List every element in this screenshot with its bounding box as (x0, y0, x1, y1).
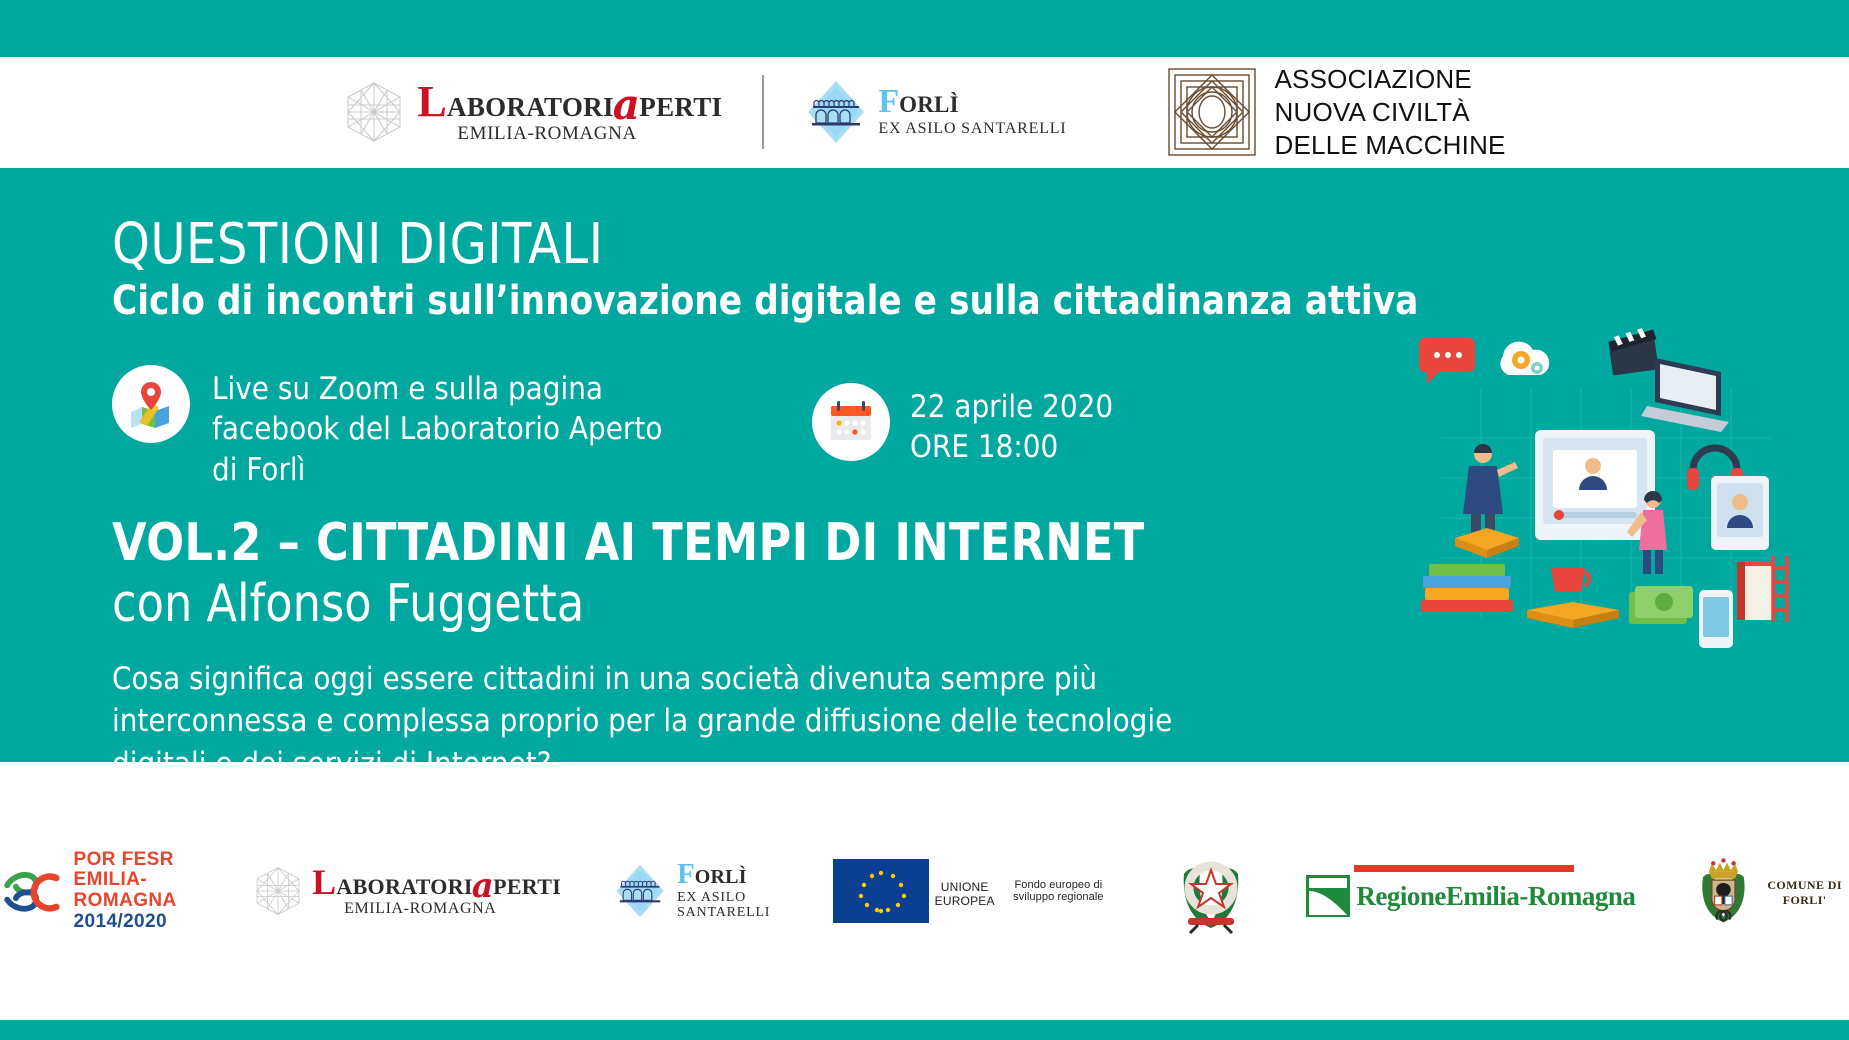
la-letter-a: a (613, 84, 641, 126)
footer-forli-wordmark: FORLÌ EX ASILO SANTARELLI (677, 861, 781, 920)
la-big-l: L (417, 83, 447, 120)
event-description: Cosa significa oggi essere cittadini in … (112, 658, 1172, 762)
geometric-rosette-icon (1167, 67, 1257, 157)
place-text: Live su Zoom e sulla pagina facebook del… (212, 365, 662, 490)
logo-regione-emilia-romagna: RegioneEmilia-Romagna (1306, 865, 1635, 917)
footer-la-big-l: L (312, 867, 336, 898)
map-pin-icon (112, 365, 190, 443)
eu-flag-icon (833, 859, 929, 923)
rer-wordmark: RegioneEmilia-Romagna (1356, 881, 1635, 912)
logo-comune-di-forli: COMUNE DI FORLI' (1687, 842, 1849, 940)
date-info: 22 aprile 2020 ORE 18:00 (812, 383, 1136, 468)
footer-forli-big-f: F (677, 861, 695, 887)
footer-logo-band: POR FESR EMILIA-ROMAGNA 2014/2020 LABORA… (0, 762, 1849, 1020)
footer-logo-forli: FORLÌ EX ASILO SANTARELLI (613, 861, 781, 920)
la-word2: PERTI (639, 94, 722, 121)
footer-la-word2: PERTI (493, 876, 561, 898)
event-headline: VOL.2 – CITTADINI AI TEMPI DI INTERNET c… (112, 513, 1144, 636)
footer-la-wordmark: LABORATORIaPERTI EMILIA-ROMAGNA (312, 866, 561, 917)
emblem-of-italy-icon (1168, 848, 1254, 934)
logo-unione-europea: UNIONE EUROPEA Fondo europeo di sviluppo… (833, 859, 1116, 923)
footer-forli-rest: ORLÌ (695, 867, 747, 888)
la-word1: ABORATORI (447, 94, 614, 121)
description-line-1: Cosa significa oggi essere cittadini in … (112, 658, 1172, 700)
laboratori-aperti-wordmark: LABORATORIaPERTI EMILIA-ROMAGNA (417, 81, 722, 143)
por-fesr-line1: POR FESR (74, 850, 202, 871)
eu-caption-1: UNIONE EUROPEA (929, 880, 1000, 908)
forli-arches-diamond-icon (804, 79, 868, 145)
hexagon-mesh-icon (343, 81, 405, 143)
bottom-accent-strip (0, 1020, 1849, 1040)
place-line2: facebook del Laboratorio Aperto (212, 409, 662, 449)
logo-por-fesr: POR FESR EMILIA-ROMAGNA 2014/2020 (0, 850, 201, 932)
rer-green-mark-icon (1306, 875, 1350, 917)
logo-repubblica-italiana (1168, 848, 1254, 934)
por-fesr-line3: 2014/2020 (74, 912, 202, 933)
rer-red-bar (1354, 865, 1574, 872)
footer-logo-laboratori-aperti: LABORATORIaPERTI EMILIA-ROMAGNA (253, 866, 561, 917)
top-accent-strip (0, 0, 1849, 57)
eu-caption-2: Fondo europeo di sviluppo regionale (1000, 879, 1116, 903)
date-text: 22 aprile 2020 ORE 18:00 (910, 383, 1113, 468)
poster-root: LABORATORIaPERTI EMILIA-ROMAGNA (0, 0, 1849, 1040)
por-fesr-wordmark: POR FESR EMILIA-ROMAGNA 2014/2020 (74, 850, 202, 932)
page-title: QUESTIONI DIGITALI (112, 212, 603, 277)
por-fesr-line2: EMILIA-ROMAGNA (74, 870, 202, 911)
hexagon-mesh-icon (253, 866, 303, 916)
logo-laboratori-aperti: LABORATORIaPERTI EMILIA-ROMAGNA (343, 81, 722, 143)
calendar-icon (812, 383, 890, 461)
comune-caption: COMUNE DI FORLI' (1760, 878, 1849, 908)
comune-coat-of-arms-icon (1687, 842, 1760, 940)
por-fesr-swirl-icon (0, 855, 64, 927)
place-line3: di Forlì (212, 450, 662, 490)
footer-la-region: EMILIA-ROMAGNA (344, 901, 561, 917)
la-region: EMILIA-ROMAGNA (457, 124, 722, 143)
footer-la-letter-a: a (472, 869, 494, 903)
page-subtitle: Ciclo di incontri sull’innovazione digit… (112, 278, 1418, 324)
forli-arches-diamond-icon (613, 863, 667, 919)
footer-forli-subtitle: EX ASILO SANTARELLI (677, 891, 781, 920)
description-line-3: digitali e dei servizi di Internet? (112, 743, 1172, 762)
footer-la-word1: ABORATORI (336, 876, 472, 898)
isometric-digital-illustration (1411, 318, 1801, 658)
place-line1: Live su Zoom e sulla pagina (212, 369, 662, 409)
anc-line1: ASSOCIAZIONE (1275, 63, 1506, 96)
anc-line2: NUOVA CIVILTÀ (1275, 96, 1506, 129)
logo-associazione-nuova-civilta: ASSOCIAZIONE NUOVA CIVILTÀ DELLE MACCHIN… (1167, 63, 1506, 163)
main-content-panel: QUESTIONI DIGITALI Ciclo di incontri sul… (0, 168, 1849, 762)
header-divider (762, 75, 764, 149)
anc-line3: DELLE MACCHINE (1275, 129, 1506, 162)
forli-big-f: F (878, 87, 899, 118)
date-line1: 22 aprile 2020 (910, 387, 1113, 427)
place-info: Live su Zoom e sulla pagina facebook del… (112, 365, 712, 490)
headline-line-1: VOL.2 – CITTADINI AI TEMPI DI INTERNET (112, 513, 1144, 574)
header-logo-band: LABORATORIaPERTI EMILIA-ROMAGNA (0, 57, 1849, 168)
forli-wordmark: FORLÌ EX ASILO SANTARELLI (878, 87, 1066, 137)
headline-line-2: con Alfonso Fuggetta (112, 574, 1144, 635)
description-line-2: interconnessa e complessa proprio per la… (112, 700, 1172, 742)
forli-rest: ORLÌ (899, 93, 959, 117)
associazione-wordmark: ASSOCIAZIONE NUOVA CIVILTÀ DELLE MACCHIN… (1275, 63, 1506, 163)
date-line2: ORE 18:00 (910, 427, 1113, 467)
forli-subtitle: EX ASILO SANTARELLI (878, 121, 1066, 138)
logo-forli: FORLÌ EX ASILO SANTARELLI (804, 79, 1066, 145)
